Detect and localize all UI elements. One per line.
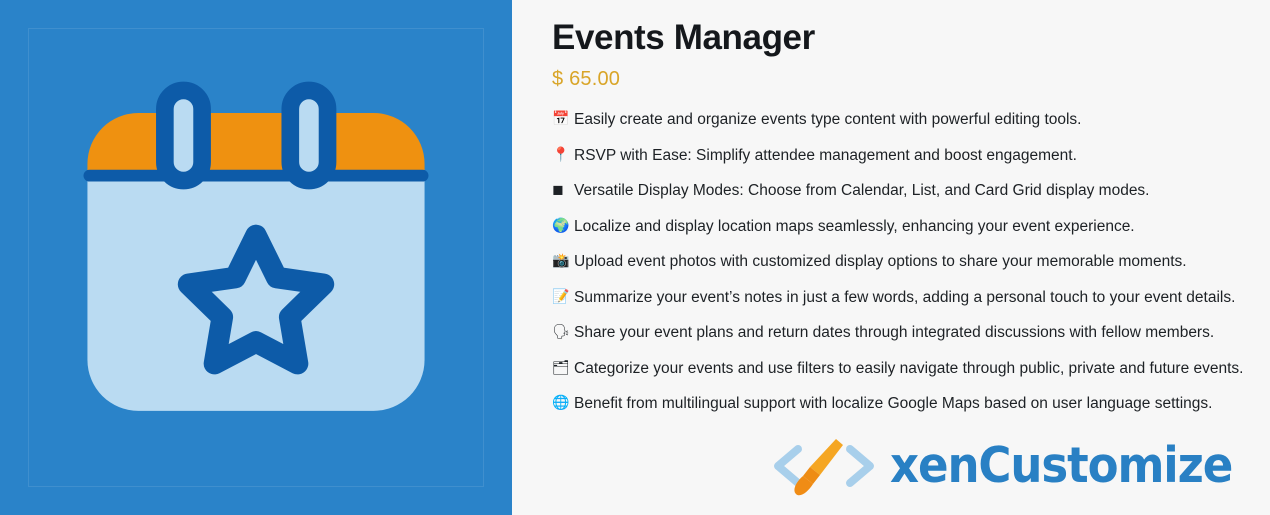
list-item-label: Benefit from multilingual support with l…	[574, 386, 1212, 422]
speaking-head-icon: 🗣	[552, 315, 574, 351]
list-item: ◼ Versatile Display Modes: Choose from C…	[552, 173, 1270, 209]
brand-logo: xenCustomize	[772, 435, 1262, 497]
list-item: 📸 Upload event photos with customized di…	[552, 244, 1270, 280]
list-item-label: Versatile Display Modes: Choose from Cal…	[574, 173, 1150, 209]
list-item-label: Share your event plans and return dates …	[574, 315, 1214, 351]
list-item: 🌐 Benefit from multilingual support with…	[552, 386, 1270, 422]
code-brackets-paintbrush-icon	[772, 435, 880, 497]
globe-earth-icon: 🌍	[552, 209, 574, 245]
list-item: 📍 RSVP with Ease: Simplify attendee mana…	[552, 138, 1270, 174]
product-price: $ 65.00	[552, 64, 1270, 94]
calendar-icon: 📅	[552, 102, 574, 138]
black-square-icon: ◼	[552, 173, 574, 209]
list-item: 🗣 Share your event plans and return date…	[552, 315, 1270, 351]
list-item-label: Easily create and organize events type c…	[574, 102, 1082, 138]
list-item-label: RSVP with Ease: Simplify attendee manage…	[574, 138, 1077, 174]
round-pushpin-icon: 📍	[552, 138, 574, 174]
camera-flash-icon: 📸	[552, 244, 574, 280]
list-item: 🌍 Localize and display location maps sea…	[552, 209, 1270, 245]
list-item: 📅 Easily create and organize events type…	[552, 102, 1270, 138]
list-item-label: Upload event photos with customized disp…	[574, 244, 1187, 280]
calendar-star-icon	[0, 0, 512, 515]
list-item: 📝 Summarize your event’s notes in just a…	[552, 280, 1270, 316]
list-item-label: Summarize your event’s notes in just a f…	[574, 280, 1235, 316]
list-item: 🗂 Categorize your events and use filters…	[552, 351, 1270, 387]
brand-name: xenCustomize	[890, 440, 1232, 492]
card-index-dividers-icon: 🗂	[552, 351, 574, 387]
product-content-panel: Events Manager $ 65.00 📅 Easily create a…	[512, 0, 1270, 515]
list-item-label: Categorize your events and use filters t…	[574, 351, 1243, 387]
product-banner: Events Manager $ 65.00 📅 Easily create a…	[0, 0, 1270, 515]
list-item-label: Localize and display location maps seaml…	[574, 209, 1135, 245]
memo-icon: 📝	[552, 280, 574, 316]
page-title: Events Manager	[552, 12, 1270, 64]
feature-list: 📅 Easily create and organize events type…	[552, 102, 1270, 422]
globe-meridians-icon: 🌐	[552, 386, 574, 422]
product-icon-panel	[0, 0, 512, 515]
